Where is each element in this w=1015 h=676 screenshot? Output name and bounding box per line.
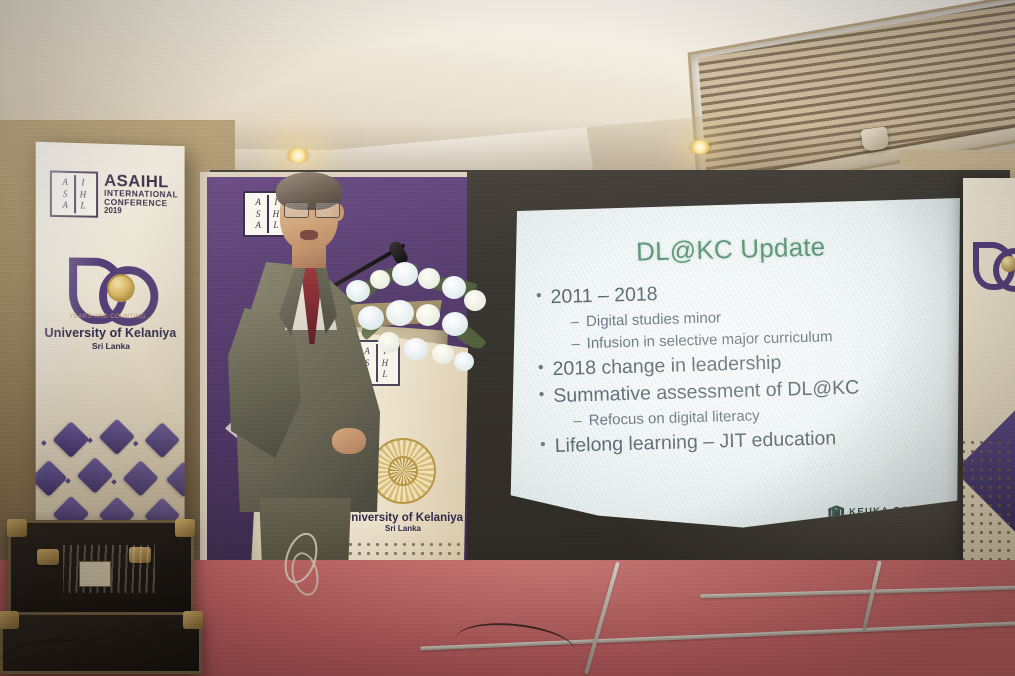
bullet-marker: • (536, 285, 542, 307)
bullet-marker: – (571, 334, 580, 354)
conference-photo-scene: ASA IHL A S A I H L ASAIHL (0, 0, 1015, 676)
slide-title: DL@KC Update (508, 228, 957, 272)
downlight-icon (688, 140, 712, 154)
keuka-college-tagline: Education to Meet the Needs of the Regio… (849, 515, 948, 522)
keuka-college-logo: KEUKA COLLEGE Education to Meet the Need… (828, 502, 948, 525)
downlight-icon (285, 148, 311, 163)
speaker-hand (332, 428, 366, 454)
slide-content: DL@KC Update • 2011 – 2018 – Digital stu… (508, 196, 960, 536)
bullet-marker: • (540, 434, 546, 456)
rollup-banner-left: A S A I H L ASAIHL INTERNATIONAL CONFERE… (36, 142, 185, 537)
rollup-banner-right (963, 178, 1015, 578)
bullet-text: Lifelong learning – JIT education (554, 426, 836, 458)
bullet-marker: • (538, 385, 544, 407)
anniversary-medallion-icon (1001, 256, 1015, 272)
bullet-text: Refocus on digital literacy (589, 406, 760, 431)
shield-icon (828, 505, 845, 525)
anniversary-60-logo (971, 240, 1015, 292)
banner-halftone-pattern (963, 438, 1015, 578)
bullet-marker: – (570, 312, 579, 332)
keuka-college-name: KEUKA COLLEGE (849, 505, 948, 518)
projection-screen: DL@KC Update • 2011 – 2018 – Digital stu… (508, 196, 960, 536)
bullet-text: 2018 change in leadership (552, 350, 781, 381)
banner-sheen (36, 142, 185, 537)
glasses-icon (284, 202, 340, 216)
slide-bullet-list: • 2011 – 2018 – Digital studies minor – … (536, 274, 945, 462)
flight-case (8, 520, 194, 624)
bullet-marker: • (538, 357, 544, 379)
bullet-text: 2011 – 2018 (550, 282, 658, 310)
bullet-text: Digital studies minor (586, 308, 722, 332)
slide-surface: DL@KC Update • 2011 – 2018 – Digital stu… (508, 196, 960, 536)
speaker-mouth (300, 230, 318, 240)
bullet-marker: – (573, 411, 582, 431)
